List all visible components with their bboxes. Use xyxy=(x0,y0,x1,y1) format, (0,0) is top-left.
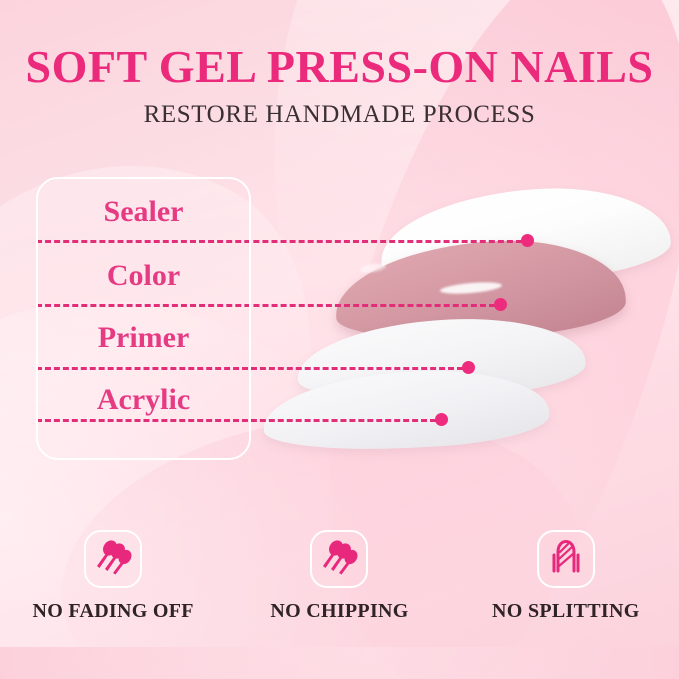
layer-label-acrylic: Acrylic xyxy=(36,383,251,417)
feature-badge-no-splitting xyxy=(537,530,595,588)
feature-badge-no-fading-off xyxy=(84,530,142,588)
feature-label-no-fading-off: NO FADING OFF xyxy=(33,600,194,623)
layer-label-primer: Primer xyxy=(36,321,251,355)
nail-strokes-icon xyxy=(91,535,135,584)
feature-no-fading-off: NO FADING OFF xyxy=(0,530,226,623)
connector-dot-acrylic xyxy=(435,413,448,426)
page-subtitle: RESTORE HANDMADE PROCESS xyxy=(0,101,679,129)
background-bottom-band xyxy=(0,647,679,679)
layer-label-color: Color xyxy=(36,259,251,293)
nail-file-icon xyxy=(544,535,588,584)
feature-label-no-splitting: NO SPLITTING xyxy=(492,600,640,623)
feature-label-no-chipping: NO CHIPPING xyxy=(270,600,408,623)
nail-layer-stack-illustration xyxy=(255,180,679,460)
soft-gel-nails-infographic: SOFT GEL PRESS-ON NAILS RESTORE HANDMADE… xyxy=(0,0,679,679)
connector-dot-color xyxy=(494,298,507,311)
feature-badge-no-chipping xyxy=(310,530,368,588)
layer-label-sealer: Sealer xyxy=(36,195,251,229)
feature-row: NO FADING OFF xyxy=(0,530,679,623)
nail-strokes-icon xyxy=(317,535,361,584)
feature-no-splitting: NO SPLITTING xyxy=(453,530,679,623)
page-title: SOFT GEL PRESS-ON NAILS xyxy=(0,40,679,93)
feature-no-chipping: NO CHIPPING xyxy=(226,530,452,623)
connector-dot-sealer xyxy=(521,234,534,247)
connector-dot-primer xyxy=(462,361,475,374)
